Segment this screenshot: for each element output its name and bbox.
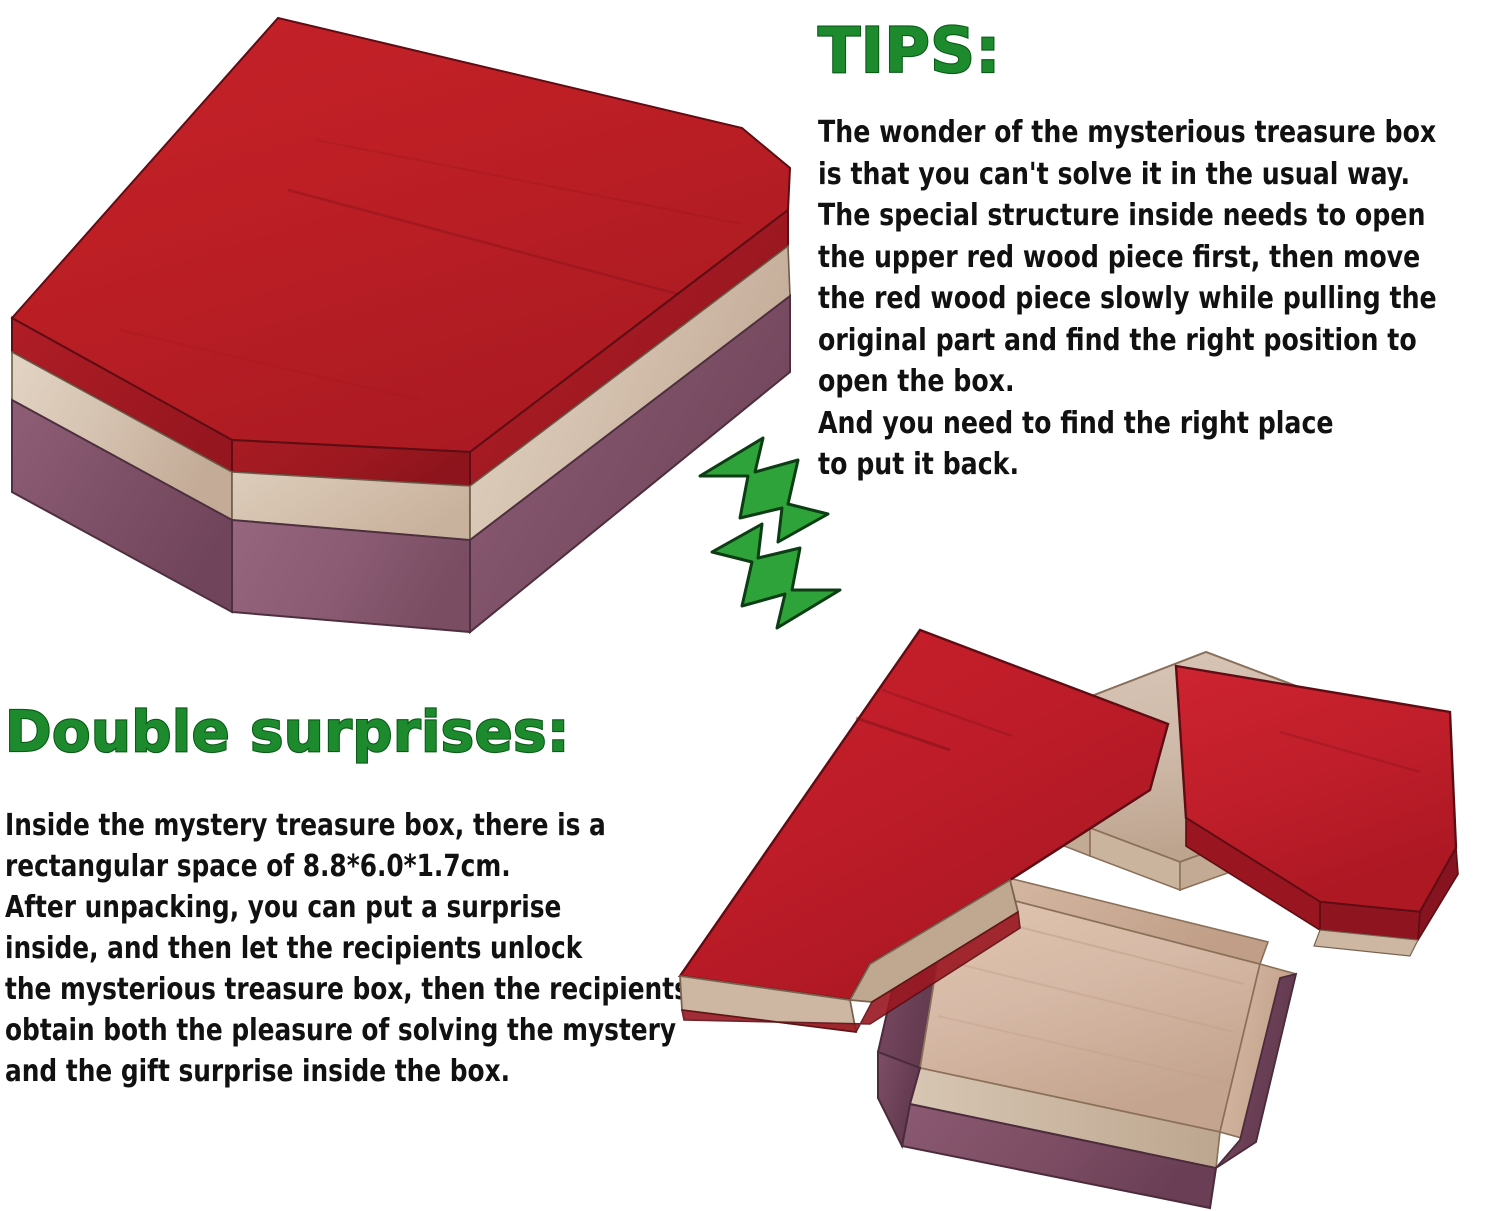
box-base-front bbox=[232, 520, 470, 632]
open-box-photo bbox=[620, 612, 1500, 1211]
tips-line: the red wood piece slowly while pulling … bbox=[818, 278, 1437, 320]
tips-line: And you need to find the right place bbox=[818, 403, 1437, 445]
tips-line: to put it back. bbox=[818, 444, 1437, 486]
tips-line: The special structure inside needs to op… bbox=[818, 195, 1437, 237]
tips-body-text: The wonder of the mysterious treasure bo… bbox=[818, 112, 1437, 486]
tips-line: open the box. bbox=[818, 361, 1437, 403]
tips-line: original part and find the right positio… bbox=[818, 320, 1437, 362]
arrow-down-right-icon bbox=[700, 438, 828, 542]
tips-heading: TIPS: bbox=[818, 14, 1001, 87]
tips-line: the upper red wood piece first, then mov… bbox=[818, 237, 1437, 279]
double-surprises-heading: Double surprises: bbox=[5, 700, 570, 765]
tips-line: The wonder of the mysterious treasure bo… bbox=[818, 112, 1437, 154]
infographic-page: TIPS: The wonder of the mysterious treas… bbox=[0, 0, 1500, 1211]
tips-line: is that you can't solve it in the usual … bbox=[818, 154, 1437, 196]
